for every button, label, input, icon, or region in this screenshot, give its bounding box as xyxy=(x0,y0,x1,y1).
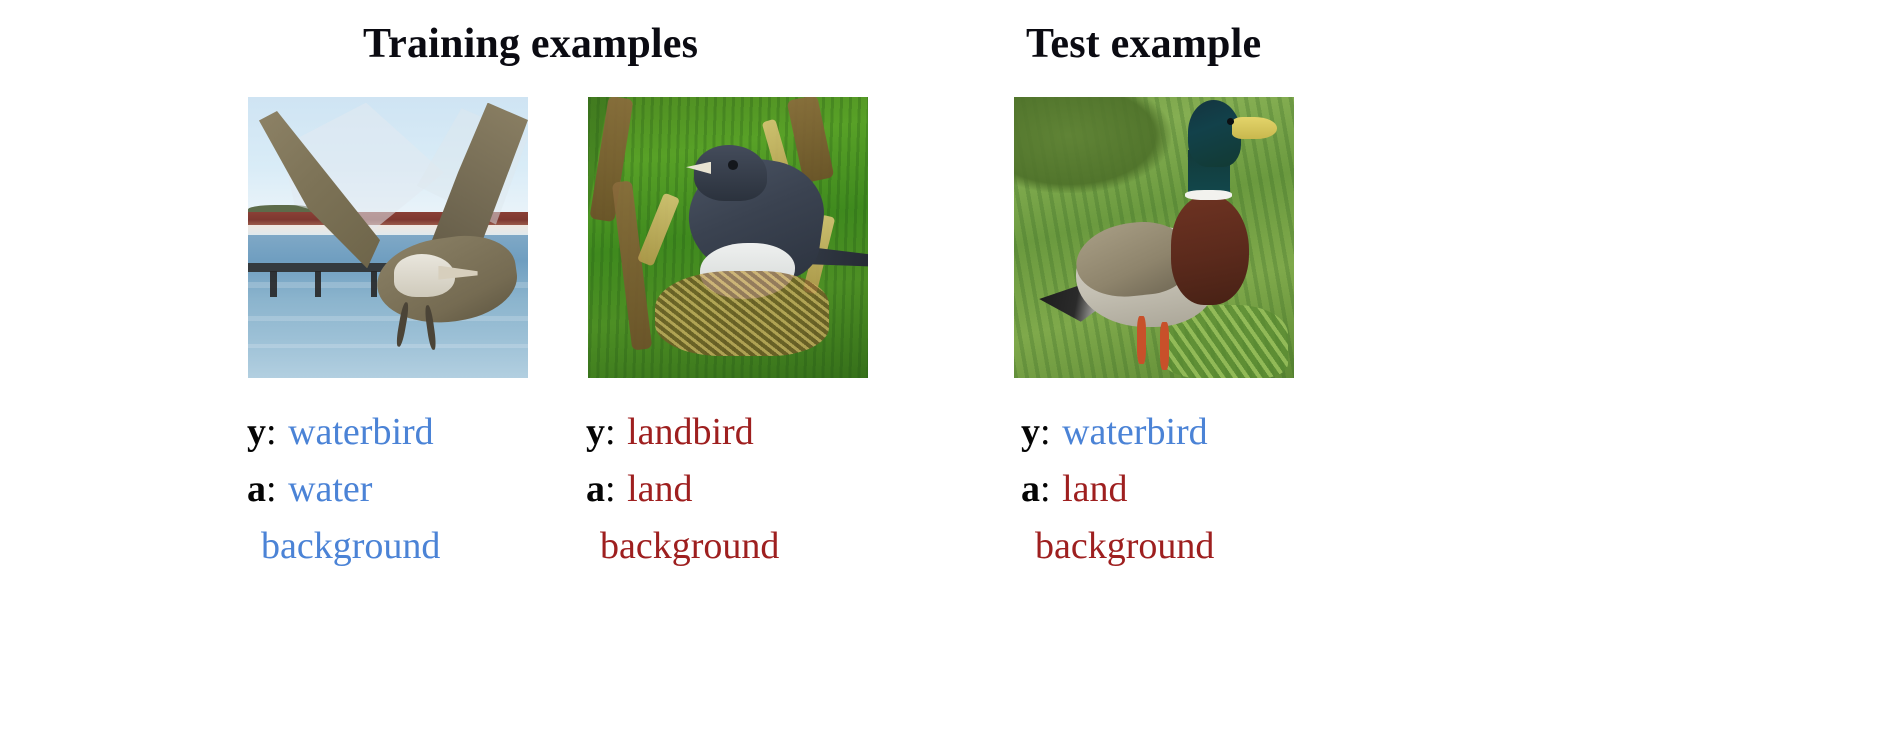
caption-row-a: a: water xyxy=(247,461,440,518)
caption-row-y: y: landbird xyxy=(586,404,779,461)
mallard-scene xyxy=(1014,97,1294,378)
colon-a: : xyxy=(1040,468,1051,510)
caption-row-a-continuation: background xyxy=(247,518,440,575)
mallard-breast xyxy=(1171,195,1249,305)
caption-row-a: a: land xyxy=(1021,461,1214,518)
pier-post-1 xyxy=(270,271,276,296)
value-a: water xyxy=(286,468,372,510)
label-a: a xyxy=(586,468,605,510)
colon-a: : xyxy=(266,468,277,510)
value-a-continuation: background xyxy=(259,525,440,567)
junco-on-grass-photo xyxy=(588,97,868,378)
pier-post-2 xyxy=(315,271,321,296)
value-a: land xyxy=(1060,468,1127,510)
heading-training-examples: Training examples xyxy=(363,20,698,68)
junco-eye xyxy=(728,160,738,170)
label-a: a xyxy=(1021,468,1040,510)
seagull-scene xyxy=(248,97,528,378)
value-a-continuation: background xyxy=(1033,525,1214,567)
caption-test-1: y: waterbird a: land background xyxy=(1021,404,1214,575)
value-y: waterbird xyxy=(1060,411,1208,453)
mallard-duck-on-grass-photo xyxy=(1014,97,1294,378)
caption-train-2: y: landbird a: land background xyxy=(586,404,779,575)
colon-y: : xyxy=(605,411,616,453)
caption-row-y: y: waterbird xyxy=(1021,404,1214,461)
colon-a: : xyxy=(605,468,616,510)
value-a-continuation: background xyxy=(598,525,779,567)
mallard-leg-1 xyxy=(1137,316,1146,364)
label-y: y xyxy=(1021,411,1040,453)
bush-foliage xyxy=(1014,97,1171,193)
water-ripple-2 xyxy=(248,316,528,320)
mallard-bill xyxy=(1232,117,1277,139)
nest-twigs xyxy=(655,271,829,355)
mallard-eye xyxy=(1227,118,1234,125)
value-a: land xyxy=(625,468,692,510)
caption-row-a-continuation: background xyxy=(1021,518,1214,575)
caption-train-1: y: waterbird a: water background xyxy=(247,404,440,575)
mallard-leg-2 xyxy=(1160,322,1169,370)
value-y: landbird xyxy=(625,411,754,453)
caption-row-a: a: land xyxy=(586,461,779,518)
colon-y: : xyxy=(266,411,277,453)
seagull-over-water-photo xyxy=(248,97,528,378)
water-ripple-3 xyxy=(248,344,528,348)
junco-head xyxy=(694,145,767,201)
label-a: a xyxy=(247,468,266,510)
junco-scene xyxy=(588,97,868,378)
value-y: waterbird xyxy=(286,411,434,453)
label-y: y xyxy=(586,411,605,453)
colon-y: : xyxy=(1040,411,1051,453)
mallard-white-collar xyxy=(1185,190,1233,200)
caption-row-y: y: waterbird xyxy=(247,404,440,461)
label-y: y xyxy=(247,411,266,453)
heading-test-example: Test example xyxy=(1026,20,1261,68)
caption-row-a-continuation: background xyxy=(586,518,779,575)
